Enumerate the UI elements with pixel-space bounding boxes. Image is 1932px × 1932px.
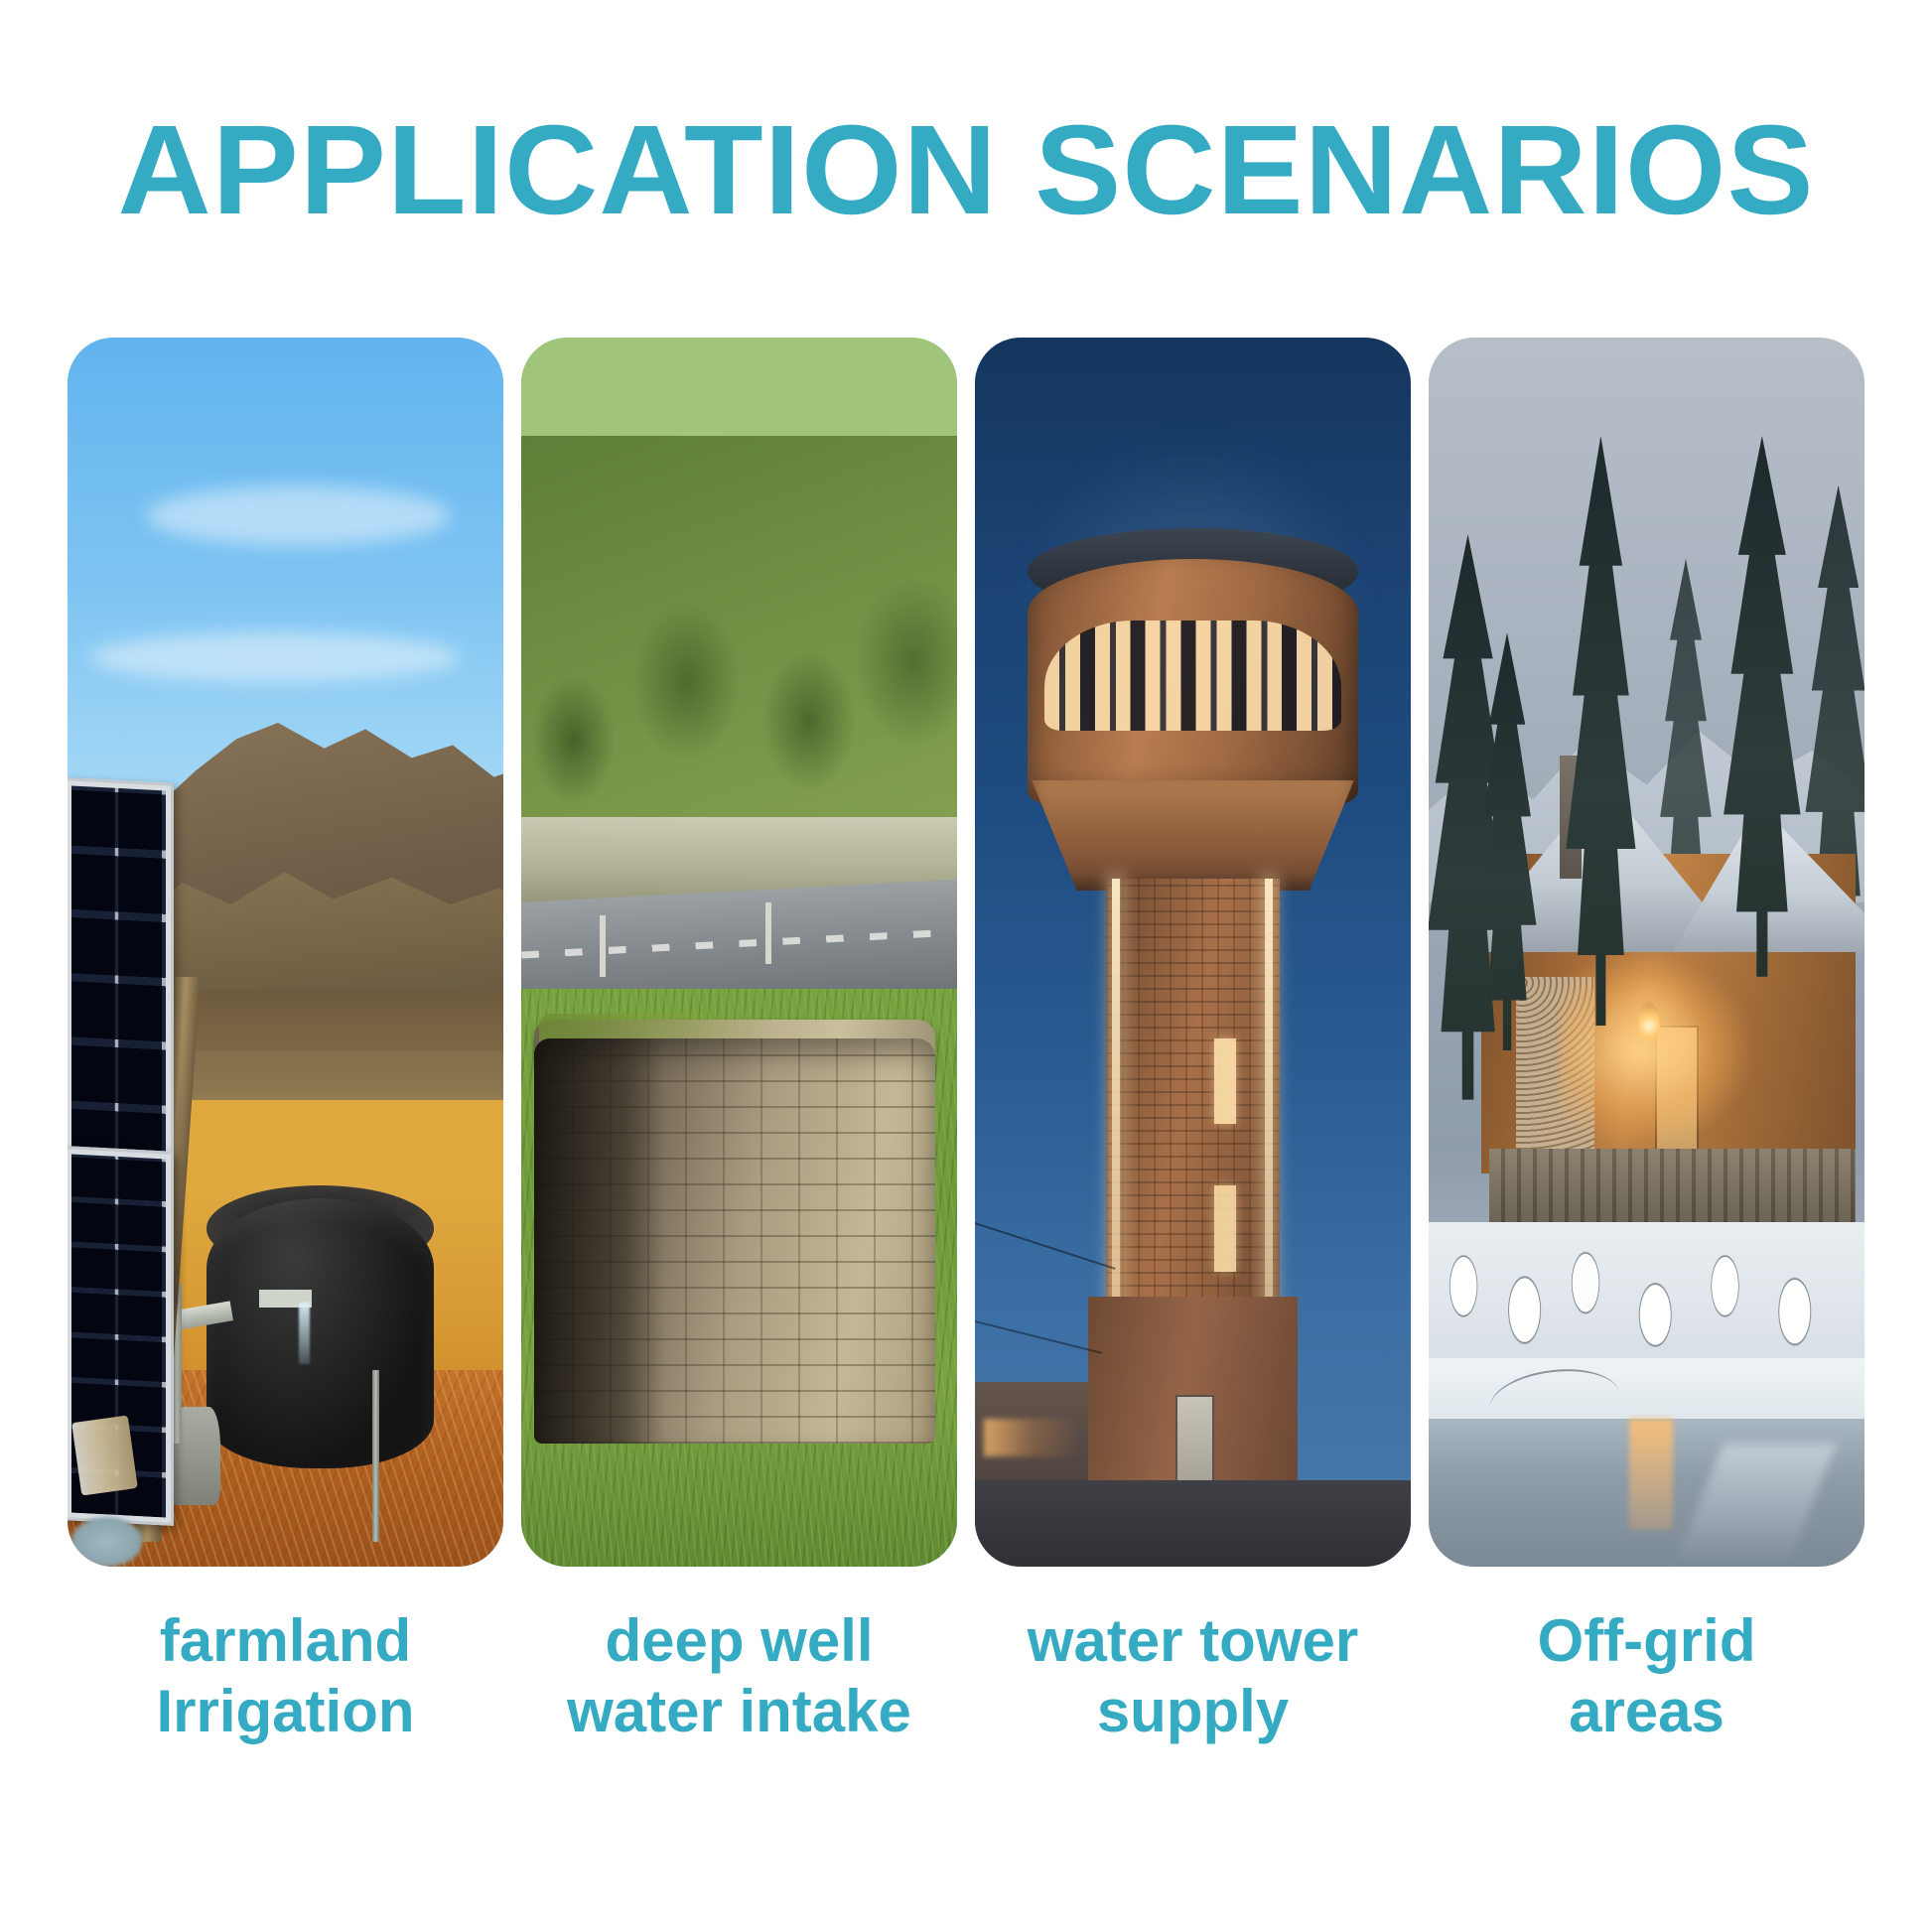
shaft-window bbox=[1214, 1185, 1236, 1272]
roadside-post bbox=[600, 915, 606, 977]
ground-debris bbox=[71, 1416, 138, 1496]
scenario-panel-off-grid-areas[interactable] bbox=[1429, 338, 1864, 1567]
water-puddle bbox=[71, 1517, 141, 1567]
pipe-right bbox=[372, 1370, 379, 1542]
caption-line-2: Irrigation bbox=[68, 1677, 503, 1747]
caption-water-tower-supply: water tower supply bbox=[975, 1606, 1411, 1747]
caption-line-2: water intake bbox=[521, 1677, 957, 1747]
application-scenarios-page: APPLICATION SCENARIOS bbox=[0, 0, 1932, 1932]
caption-farmland-irrigation: farmland Irrigation bbox=[68, 1606, 503, 1747]
water-tank bbox=[207, 1198, 433, 1468]
cloud bbox=[89, 632, 460, 682]
deep-well-photo bbox=[521, 338, 957, 1567]
caption-line-2: areas bbox=[1429, 1677, 1864, 1747]
caption-line-1: water tower bbox=[975, 1606, 1411, 1677]
ground bbox=[975, 1480, 1411, 1567]
caption-line-2: supply bbox=[975, 1677, 1411, 1747]
caption-deep-well-water-intake: deep well water intake bbox=[521, 1606, 957, 1747]
caption-off-grid-areas: Off-grid areas bbox=[1429, 1606, 1864, 1747]
roadside-post bbox=[765, 902, 771, 964]
water-stream bbox=[299, 1303, 310, 1364]
porch-lamp bbox=[1638, 1002, 1660, 1051]
water-tower-photo bbox=[975, 338, 1411, 1567]
page-title: APPLICATION SCENARIOS bbox=[0, 107, 1932, 234]
scenario-panel-water-tower-supply[interactable] bbox=[975, 338, 1411, 1567]
caption-row: farmland Irrigation deep well water inta… bbox=[68, 1606, 1864, 1747]
cloud bbox=[146, 485, 451, 547]
caption-line-1: deep well bbox=[521, 1606, 957, 1677]
farmland-irrigation-photo bbox=[68, 338, 503, 1567]
scenario-panel-deep-well-water-intake[interactable] bbox=[521, 338, 957, 1567]
scenario-panel-row bbox=[68, 338, 1864, 1567]
tree-canopy bbox=[521, 338, 957, 706]
caption-line-1: Off-grid bbox=[1429, 1606, 1864, 1677]
cabin-warm-glow bbox=[1560, 952, 1751, 1149]
off-grid-cabin-photo bbox=[1429, 338, 1864, 1567]
light-reflection bbox=[1629, 1419, 1673, 1529]
scenario-panel-farmland-irrigation[interactable] bbox=[68, 338, 503, 1567]
well-shadow bbox=[534, 1038, 665, 1445]
shaft-window bbox=[1214, 1038, 1236, 1125]
tower-windows bbox=[1044, 621, 1341, 731]
tower-corbel bbox=[1032, 780, 1354, 891]
caption-line-1: farmland bbox=[68, 1606, 503, 1677]
